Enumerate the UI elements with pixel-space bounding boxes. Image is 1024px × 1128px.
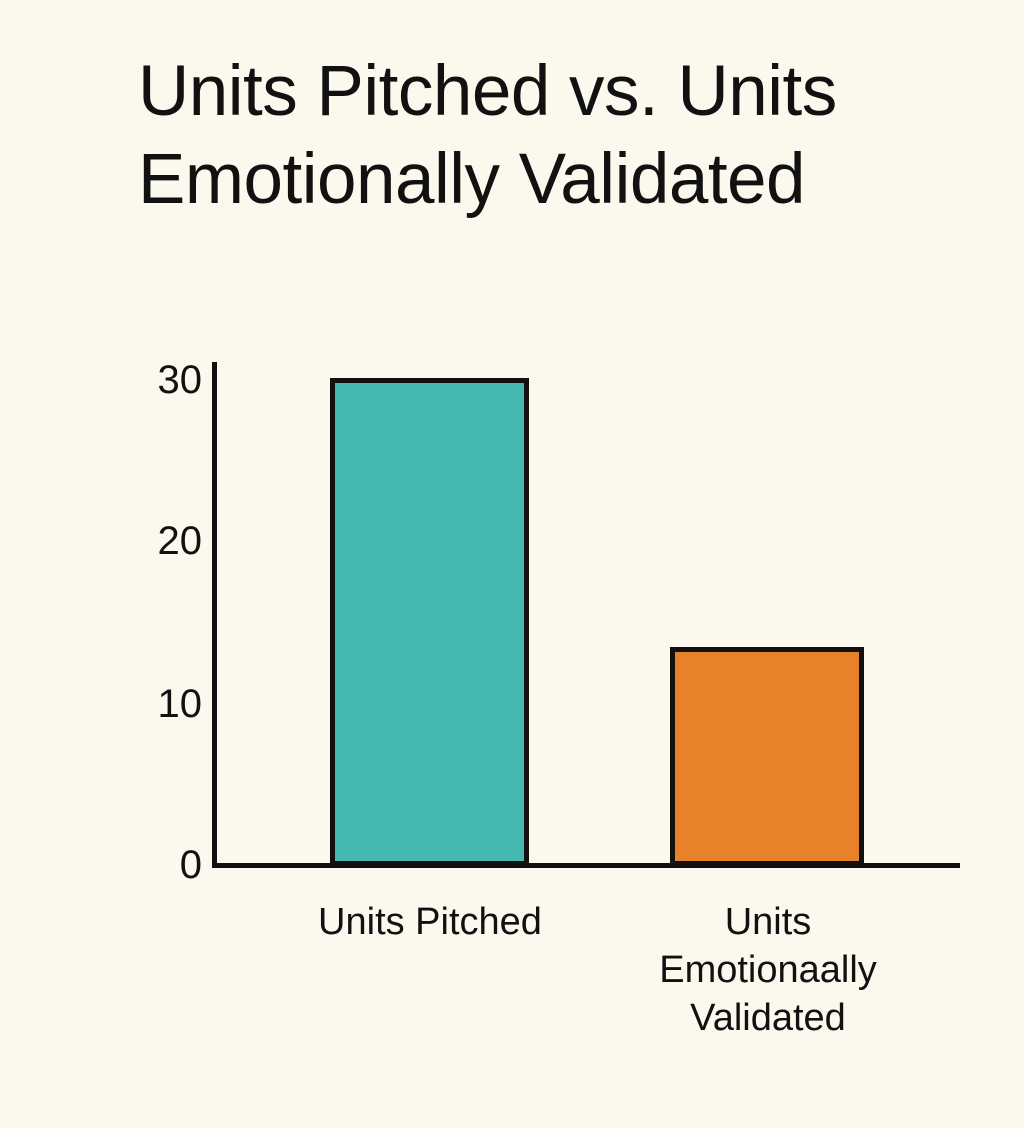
plot-area: 30 20 10 0 Units Pitched Units Emotionaa…	[0, 0, 1024, 1128]
bar-units-emotionally-validated[interactable]	[670, 647, 864, 866]
y-tick-label-20: 20	[118, 521, 202, 561]
y-tick-label-30: 30	[118, 360, 202, 400]
chart-root: Units Pitched vs. Units Emotionally Vali…	[0, 0, 1024, 1128]
y-axis-tick-labels: 30 20 10 0	[110, 0, 202, 1128]
y-tick-label-10: 10	[118, 684, 202, 724]
y-axis-line	[212, 362, 217, 868]
y-tick-label-0: 0	[118, 845, 202, 885]
bar-units-pitched[interactable]	[330, 378, 529, 866]
x-category-label-units-emotionally-validated: Units Emotionaally Validated	[600, 898, 936, 1042]
x-category-label-units-pitched: Units Pitched	[260, 898, 600, 946]
